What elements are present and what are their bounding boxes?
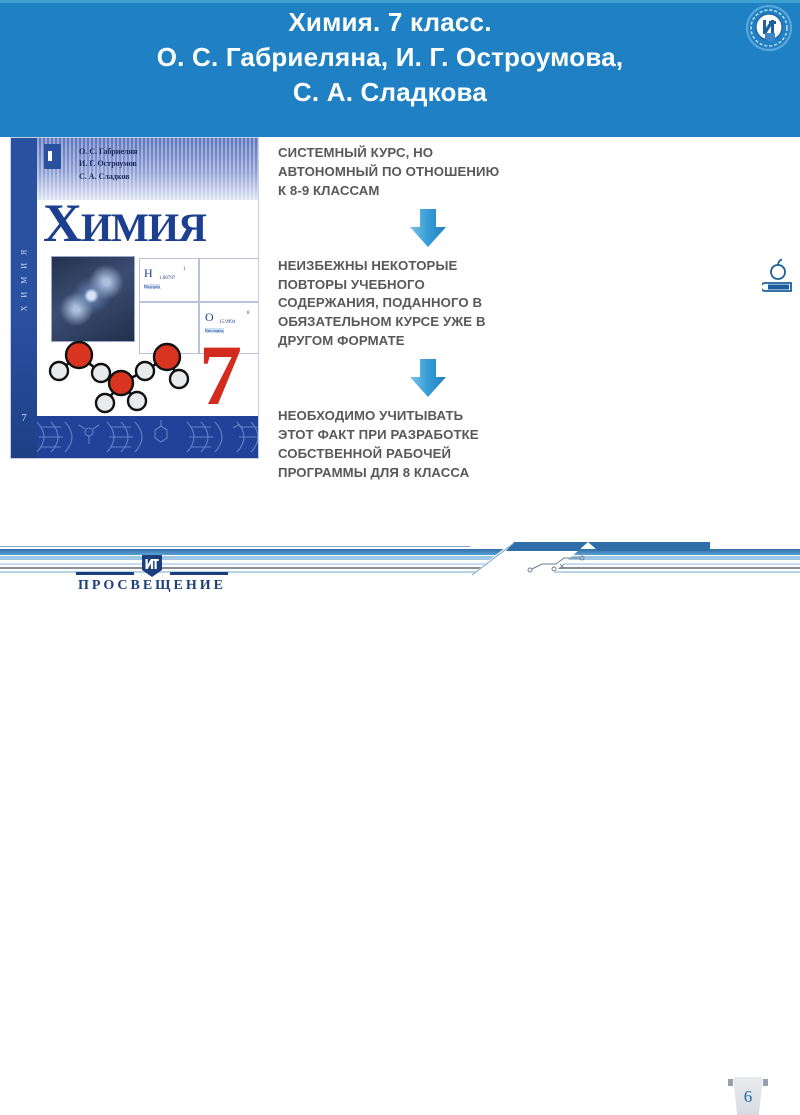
page-badge-tab-left: [728, 1079, 733, 1086]
element-name-h: Водород: [144, 284, 160, 289]
content-column: СИСТЕМНЫЙ КУРС, НО АВТОНОМНЫЙ ПО ОТНОШЕН…: [278, 144, 578, 483]
element-number-o: 8: [247, 311, 250, 316]
book-spine-title: Х И М И Я: [20, 246, 29, 311]
arrow-row-1: [278, 209, 578, 249]
element-mass-h: 1.00797: [159, 276, 175, 281]
arrow-row-2: [278, 359, 578, 399]
page-badge-tab-right: [763, 1079, 768, 1086]
footer-diagonal-decor: [470, 542, 710, 576]
content-block-1: СИСТЕМНЫЙ КУРС, НО АВТОНОМНЫЙ ПО ОТНОШЕН…: [278, 144, 578, 201]
publisher-name: ПРОСВЕЩЕНИЕ: [62, 578, 242, 594]
spacer: [278, 399, 578, 407]
slide-header: Химия. 7 класс. О. С. Габриеляна, И. Г. …: [0, 3, 800, 137]
spacer: [278, 351, 578, 359]
spacer: [278, 201, 578, 209]
content-block-2: НЕИЗБЕЖНЫ НЕКОТОРЫЕ ПОВТОРЫ УЧЕБНОГО СОД…: [278, 257, 578, 351]
down-arrow-icon: [406, 209, 450, 249]
element-symbol-o: O: [205, 310, 214, 325]
book-spine: Х И М И Я 7: [11, 138, 37, 458]
page-number-badge: 6: [731, 1077, 765, 1115]
footer-top-rule: [0, 546, 470, 547]
publisher-rule-left: [76, 572, 134, 575]
prosveshchenie-shield-icon: [141, 554, 163, 578]
crystal-photo-icon: [51, 256, 135, 342]
slide-root: Химия. 7 класс. О. С. Габриеляна, И. Г. …: [0, 0, 800, 600]
book-dna-band: [37, 416, 258, 458]
spacer: [278, 249, 578, 257]
apple-on-book-icon: [762, 258, 794, 300]
content-block-3: НЕОБХОДИМО УЧИТЫВАТЬ ЭТОТ ФАКТ ПРИ РАЗРА…: [278, 407, 578, 483]
publisher-rule-right: [170, 572, 228, 575]
water-molecule-model-icon: [45, 333, 205, 419]
book-publisher-mark-icon: [44, 144, 61, 169]
book-spine-number: 7: [21, 412, 27, 424]
book-authors: О. С. Габриелян И. Г. Остроумов С. А. Сл…: [79, 146, 137, 183]
book-front-face: О. С. Габриелян И. Г. Остроумов С. А. Сл…: [37, 138, 258, 458]
publisher-logo: ПРОСВЕЩЕНИЕ: [62, 554, 242, 594]
page-title: Химия. 7 класс. О. С. Габриеляна, И. Г. …: [40, 5, 740, 110]
book-title-rest: ИМИЯ: [81, 205, 206, 250]
element-mass-o: 15.9994: [219, 320, 235, 325]
textbook-cover-image: Х И М И Я 7 О. С. Габриелян И. Г. Остроу…: [10, 137, 259, 459]
book-grade-number: 7: [199, 332, 242, 418]
book-title-initial: Х: [43, 193, 81, 253]
element-number-h: 1: [183, 267, 186, 272]
prosveshchenie-circular-logo: [746, 5, 792, 51]
book-header-band: [37, 138, 258, 200]
page-number: 6: [731, 1087, 765, 1107]
element-symbol-h: H: [144, 266, 153, 281]
book-title: ХИМИЯ: [43, 196, 259, 250]
down-arrow-icon: [406, 359, 450, 399]
slide-footer: ПРОСВЕЩЕНИЕ 6: [0, 530, 800, 600]
